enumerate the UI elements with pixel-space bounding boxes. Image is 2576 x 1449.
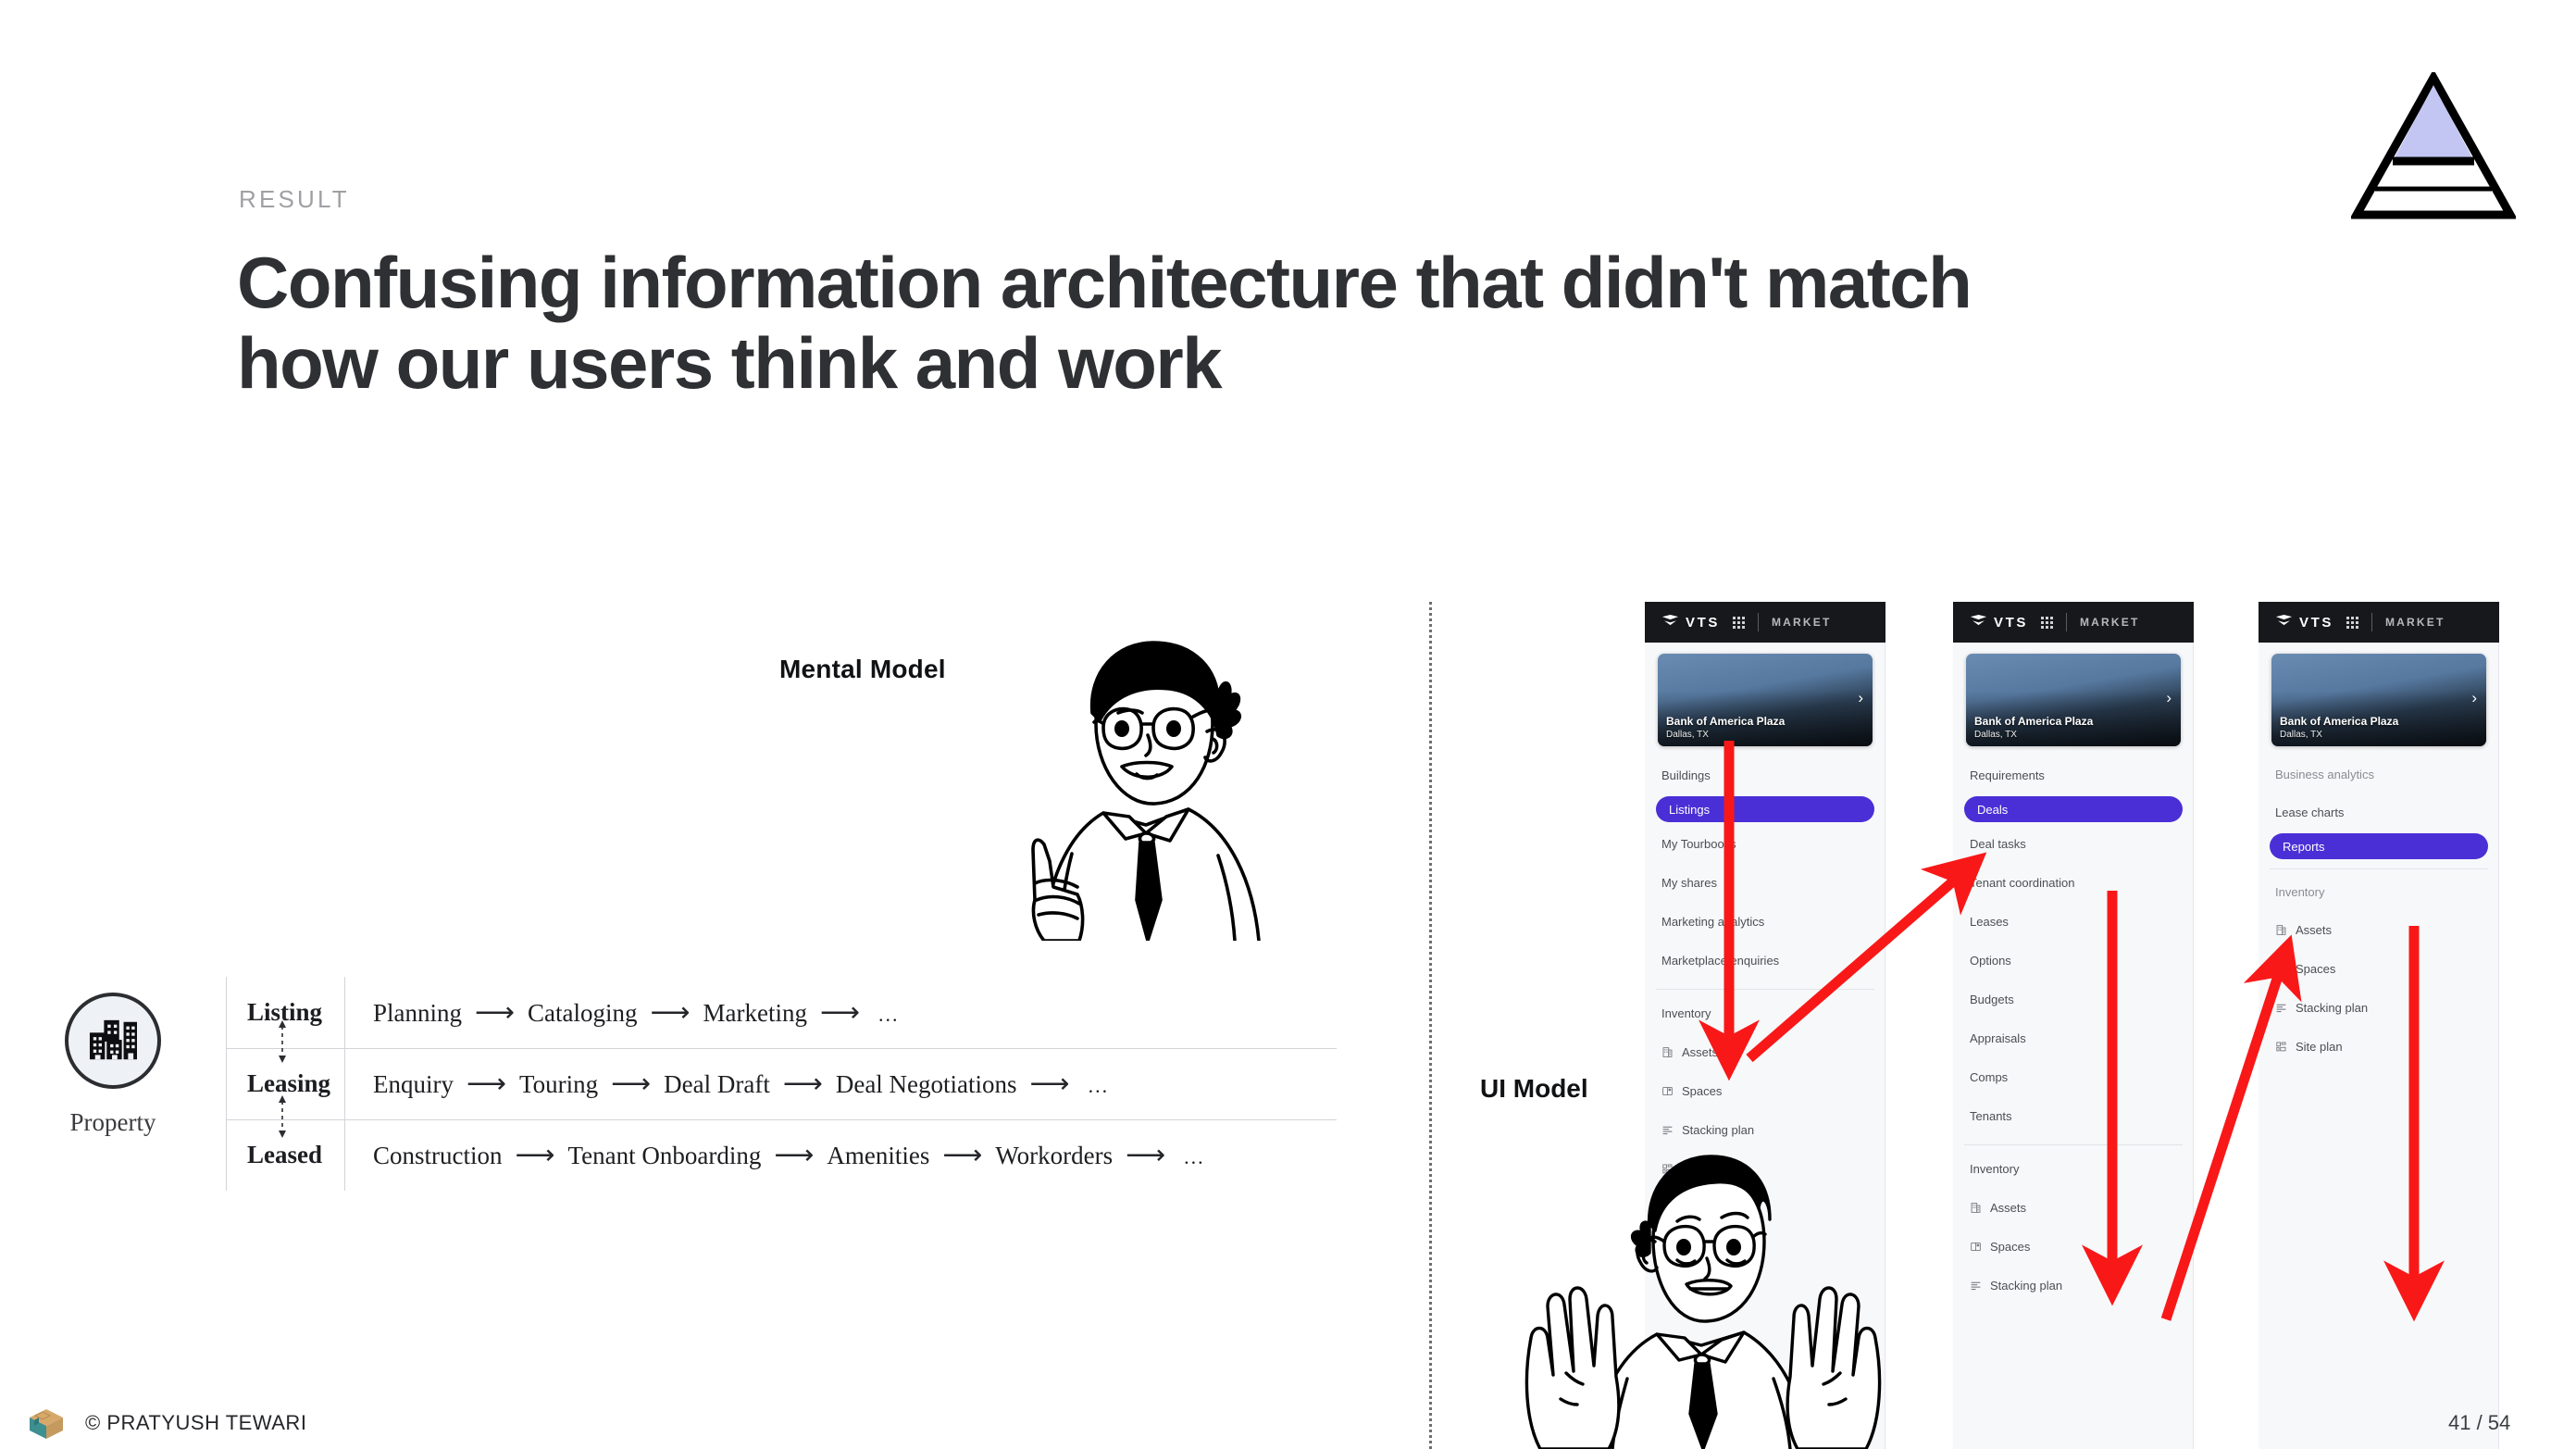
vts-topbar: VTSMARKET xyxy=(2259,602,2499,643)
sidebar-item-label: Inventory xyxy=(1970,1162,2019,1176)
arrow-right-icon: ⟶ xyxy=(761,1139,827,1171)
sidebar-item-site-plan[interactable]: Site plan xyxy=(2259,1027,2499,1066)
building-name: Bank of America Plaza xyxy=(1666,715,1785,728)
stage-link-arrow xyxy=(274,1095,291,1138)
sidebar-item-marketing-analytics[interactable]: Marketing analytics xyxy=(1645,902,1885,941)
arrow-right-icon: ⟶ xyxy=(454,1068,519,1100)
building-card-text: Bank of America PlazaDallas, TX xyxy=(1666,715,1785,740)
nav-separator xyxy=(2270,868,2488,869)
sidebar-item-label: Stacking plan xyxy=(1682,1123,1754,1137)
buildings-icon xyxy=(84,1017,142,1065)
box-cube-logo xyxy=(28,1405,65,1441)
spaces-plan-icon xyxy=(1661,1085,1682,1097)
sidebar-item-requirements[interactable]: Requirements xyxy=(1953,756,2194,794)
man-thumbs-up-illustration xyxy=(1007,635,1294,941)
sidebar-item-buildings[interactable]: Buildings xyxy=(1645,756,1885,794)
building-card-text: Bank of America PlazaDallas, TX xyxy=(2280,715,2398,740)
spaces-plan-icon xyxy=(1970,1241,1990,1253)
market-label[interactable]: MARKET xyxy=(2385,616,2445,629)
stage-steps: Planning⟶Cataloging⟶Marketing⟶... xyxy=(345,977,1338,1048)
stacking-plan-icon xyxy=(2275,1002,2296,1014)
sidebar-item-label: Deal tasks xyxy=(1970,837,2026,851)
stacking-plan-icon xyxy=(1970,1280,1990,1292)
sidebar-item-inventory[interactable]: Inventory xyxy=(1953,1149,2194,1188)
sidebar-item-label: Inventory xyxy=(2275,885,2324,899)
topbar-divider xyxy=(2371,613,2372,631)
sidebar-item-assets[interactable]: Assets xyxy=(1953,1188,2194,1227)
grid-dots-icon[interactable] xyxy=(1733,617,1745,629)
sidebar-item-leases[interactable]: Leases xyxy=(1953,902,2194,941)
process-step: Touring xyxy=(519,1070,598,1099)
sidebar-item-label: Comps xyxy=(1970,1070,2008,1084)
asset-building-icon xyxy=(1970,1202,1990,1214)
sidebar-item-label: Buildings xyxy=(1661,768,1711,782)
ui-model-label: UI Model xyxy=(1480,1074,1588,1104)
process-step: Deal Negotiations xyxy=(836,1070,1017,1099)
sidebar-item-tenant-coordination[interactable]: Tenant coordination xyxy=(1953,863,2194,902)
sidebar-item-deals[interactable]: Deals xyxy=(1964,796,2183,822)
topbar-divider xyxy=(2066,613,2067,631)
grid-dots-icon[interactable] xyxy=(2346,617,2358,629)
sidebar-item-label: Assets xyxy=(1682,1045,1718,1059)
steps-ellipsis: ... xyxy=(1083,1074,1110,1098)
building-card[interactable]: Bank of America PlazaDallas, TX› xyxy=(1966,654,2181,746)
building-location: Dallas, TX xyxy=(1974,730,2093,740)
sidebar-item-lease-charts[interactable]: Lease charts xyxy=(2259,793,2499,831)
section-divider xyxy=(1429,602,1432,1449)
sidebar-item-marketplace-enquiries[interactable]: Marketplace enquiries xyxy=(1645,941,1885,980)
sidebar-item-inventory: Inventory xyxy=(2259,873,2499,910)
building-card-text: Bank of America PlazaDallas, TX xyxy=(1974,715,2093,740)
arrow-right-icon: ⟶ xyxy=(1017,1068,1083,1100)
vts-diamond-icon xyxy=(1970,614,1987,631)
building-name: Bank of America Plaza xyxy=(1974,715,2093,728)
sidebar-item-label: Appraisals xyxy=(1970,1031,2026,1045)
sidebar-item-label: Inventory xyxy=(1661,1006,1711,1020)
arrow-right-icon: ⟶ xyxy=(598,1068,664,1100)
sidebar-item-listings[interactable]: Listings xyxy=(1656,796,1874,822)
mental-model-label: Mental Model xyxy=(779,655,946,684)
sidebar-item-label: Requirements xyxy=(1970,768,2045,782)
sidebar-item-comps[interactable]: Comps xyxy=(1953,1057,2194,1096)
sidebar-item-business-analytics: Business analytics xyxy=(2259,756,2499,793)
vts-diamond-icon xyxy=(1661,614,1679,631)
process-step: Tenant Onboarding xyxy=(568,1142,762,1170)
grid-dots-icon[interactable] xyxy=(2041,617,2053,629)
vts-wordmark: VTS xyxy=(2299,615,2333,631)
process-step: Amenities xyxy=(827,1142,929,1170)
sidebar-item-appraisals[interactable]: Appraisals xyxy=(1953,1018,2194,1057)
page-title: Confusing information architecture that … xyxy=(237,243,2097,405)
sidebar-item-label: Spaces xyxy=(2296,962,2335,976)
sidebar-item-stacking-plan[interactable]: Stacking plan xyxy=(1953,1266,2194,1305)
sidebar-item-spaces[interactable]: Spaces xyxy=(2259,949,2499,988)
arrow-right-icon: ⟶ xyxy=(807,996,873,1029)
sidebar-item-budgets[interactable]: Budgets xyxy=(1953,980,2194,1018)
sidebar-item-label: My shares xyxy=(1661,876,1717,890)
arrow-right-icon: ⟶ xyxy=(1113,1139,1178,1171)
chevron-right-icon[interactable]: › xyxy=(1858,689,1863,707)
slide-root: RESULT Confusing information architectur… xyxy=(0,0,2576,1449)
sidebar-item-label: Spaces xyxy=(1990,1240,2030,1254)
chevron-right-icon[interactable]: › xyxy=(2471,689,2477,707)
site-plan-icon xyxy=(2275,1041,2296,1053)
process-step: Enquiry xyxy=(373,1070,454,1099)
sidebar-item-label: Budgets xyxy=(1970,993,2014,1006)
vts-brand[interactable]: VTS xyxy=(1661,614,1720,631)
arrow-right-icon: ⟶ xyxy=(929,1139,995,1171)
building-name: Bank of America Plaza xyxy=(2280,715,2398,728)
nav-separator xyxy=(1656,989,1874,990)
sidebar-item-assets[interactable]: Assets xyxy=(2259,910,2499,949)
sidebar-item-label: Leases xyxy=(1970,915,2009,929)
process-step: Cataloging xyxy=(528,999,637,1028)
sidebar-item-label: Listings xyxy=(1669,803,1710,817)
property-icon-circle xyxy=(65,993,161,1089)
sidebar-item-my-tourbooks[interactable]: My Tourbooks xyxy=(1645,824,1885,863)
sidebar-item-reports[interactable]: Reports xyxy=(2270,833,2488,859)
vts-topbar: VTSMARKET xyxy=(1645,602,1885,643)
sidebar-nav: RequirementsDealsDeal tasksTenant coordi… xyxy=(1953,746,2194,1305)
stage-link-arrow xyxy=(274,1020,291,1063)
sidebar-item-label: Assets xyxy=(2296,923,2332,937)
vts-topbar: VTSMARKET xyxy=(1953,602,2194,643)
steps-ellipsis: ... xyxy=(1178,1145,1205,1169)
eyebrow-label: RESULT xyxy=(239,185,350,214)
market-label[interactable]: MARKET xyxy=(2080,616,2140,629)
ui-panel-deals[interactable]: VTSMARKETBank of America PlazaDallas, TX… xyxy=(1953,602,2194,1449)
vts-brand[interactable]: VTS xyxy=(1970,614,2028,631)
sidebar-item-label: Lease charts xyxy=(2275,806,2344,819)
man-confused-illustration xyxy=(1509,1143,1898,1449)
arrow-right-icon: ⟶ xyxy=(503,1139,568,1171)
property-label: Property xyxy=(57,1108,168,1137)
table-row: LeasedConstruction⟶Tenant Onboarding⟶Ame… xyxy=(227,1119,1338,1191)
arrow-right-icon: ⟶ xyxy=(462,996,528,1029)
pyramid-logo-icon xyxy=(2351,72,2516,220)
building-location: Dallas, TX xyxy=(2280,730,2398,740)
sidebar-item-label: Stacking plan xyxy=(2296,1001,2368,1015)
vts-diamond-icon xyxy=(2275,614,2293,631)
sidebar-item-options[interactable]: Options xyxy=(1953,941,2194,980)
sidebar-item-label: Deals xyxy=(1977,803,2008,817)
arrow-right-icon: ⟶ xyxy=(770,1068,836,1100)
vts-wordmark: VTS xyxy=(1686,615,1720,631)
building-card[interactable]: Bank of America PlazaDallas, TX› xyxy=(2271,654,2486,746)
topbar-divider xyxy=(1758,613,1759,631)
stacking-plan-icon xyxy=(1661,1124,1682,1136)
copyright-text: © PRATYUSH TEWARI xyxy=(85,1411,306,1435)
asset-building-icon xyxy=(1661,1046,1682,1058)
steps-ellipsis: ... xyxy=(873,1003,900,1027)
sidebar-item-inventory[interactable]: Inventory xyxy=(1645,993,1885,1032)
process-step: Construction xyxy=(373,1142,503,1170)
sidebar-item-stacking-plan[interactable]: Stacking plan xyxy=(2259,988,2499,1027)
sidebar-item-label: Site plan xyxy=(2296,1040,2343,1054)
stage-steps: Enquiry⟶Touring⟶Deal Draft⟶Deal Negotiat… xyxy=(345,1048,1338,1119)
sidebar-item-label: Assets xyxy=(1990,1201,2026,1215)
vts-wordmark: VTS xyxy=(1994,615,2028,631)
sidebar-nav: BuildingsListingsMy TourbooksMy sharesMa… xyxy=(1645,746,1885,1188)
sidebar-item-label: Business analytics xyxy=(2275,768,2374,781)
sidebar-item-spaces[interactable]: Spaces xyxy=(1953,1227,2194,1266)
sidebar-nav: Business analyticsLease chartsReportsInv… xyxy=(2259,746,2499,1066)
nav-separator xyxy=(1964,1144,2183,1145)
process-step: Planning xyxy=(373,999,462,1028)
table-row: ListingPlanning⟶Cataloging⟶Marketing⟶... xyxy=(227,977,1338,1048)
sidebar-item-my-shares[interactable]: My shares xyxy=(1645,863,1885,902)
sidebar-item-deal-tasks[interactable]: Deal tasks xyxy=(1953,824,2194,863)
vts-brand[interactable]: VTS xyxy=(2275,614,2333,631)
sidebar-item-label: Tenant coordination xyxy=(1970,876,2074,890)
sidebar-item-label: Marketing analytics xyxy=(1661,915,1764,929)
mental-model-table: ListingPlanning⟶Cataloging⟶Marketing⟶...… xyxy=(226,977,1337,1191)
sidebar-item-label: Marketplace enquiries xyxy=(1661,954,1779,968)
asset-building-icon xyxy=(2275,924,2296,936)
table-row: LeasingEnquiry⟶Touring⟶Deal Draft⟶Deal N… xyxy=(227,1048,1338,1119)
market-label[interactable]: MARKET xyxy=(1772,616,1832,629)
page-number: 41 / 54 xyxy=(2448,1411,2510,1435)
sidebar-item-label: Options xyxy=(1970,954,2011,968)
sidebar-item-tenants[interactable]: Tenants xyxy=(1953,1096,2194,1135)
spaces-plan-icon xyxy=(2275,963,2296,975)
sidebar-item-spaces[interactable]: Spaces xyxy=(1645,1071,1885,1110)
ui-panel-reports[interactable]: VTSMARKETBank of America PlazaDallas, TX… xyxy=(2259,602,2499,1449)
building-card[interactable]: Bank of America PlazaDallas, TX› xyxy=(1658,654,1873,746)
sidebar-item-assets[interactable]: Assets xyxy=(1645,1032,1885,1071)
sidebar-item-label: Reports xyxy=(2283,840,2325,854)
sidebar-item-label: My Tourbooks xyxy=(1661,837,1736,851)
stage-steps: Construction⟶Tenant Onboarding⟶Amenities… xyxy=(345,1119,1338,1191)
process-step: Marketing xyxy=(703,999,807,1028)
building-location: Dallas, TX xyxy=(1666,730,1785,740)
sidebar-item-label: Tenants xyxy=(1970,1109,2012,1123)
chevron-right-icon[interactable]: › xyxy=(2166,689,2172,707)
arrow-right-icon: ⟶ xyxy=(638,996,703,1029)
process-step: Workorders xyxy=(995,1142,1113,1170)
sidebar-item-label: Spaces xyxy=(1682,1084,1722,1098)
sidebar-item-label: Stacking plan xyxy=(1990,1279,2062,1293)
process-step: Deal Draft xyxy=(664,1070,770,1099)
